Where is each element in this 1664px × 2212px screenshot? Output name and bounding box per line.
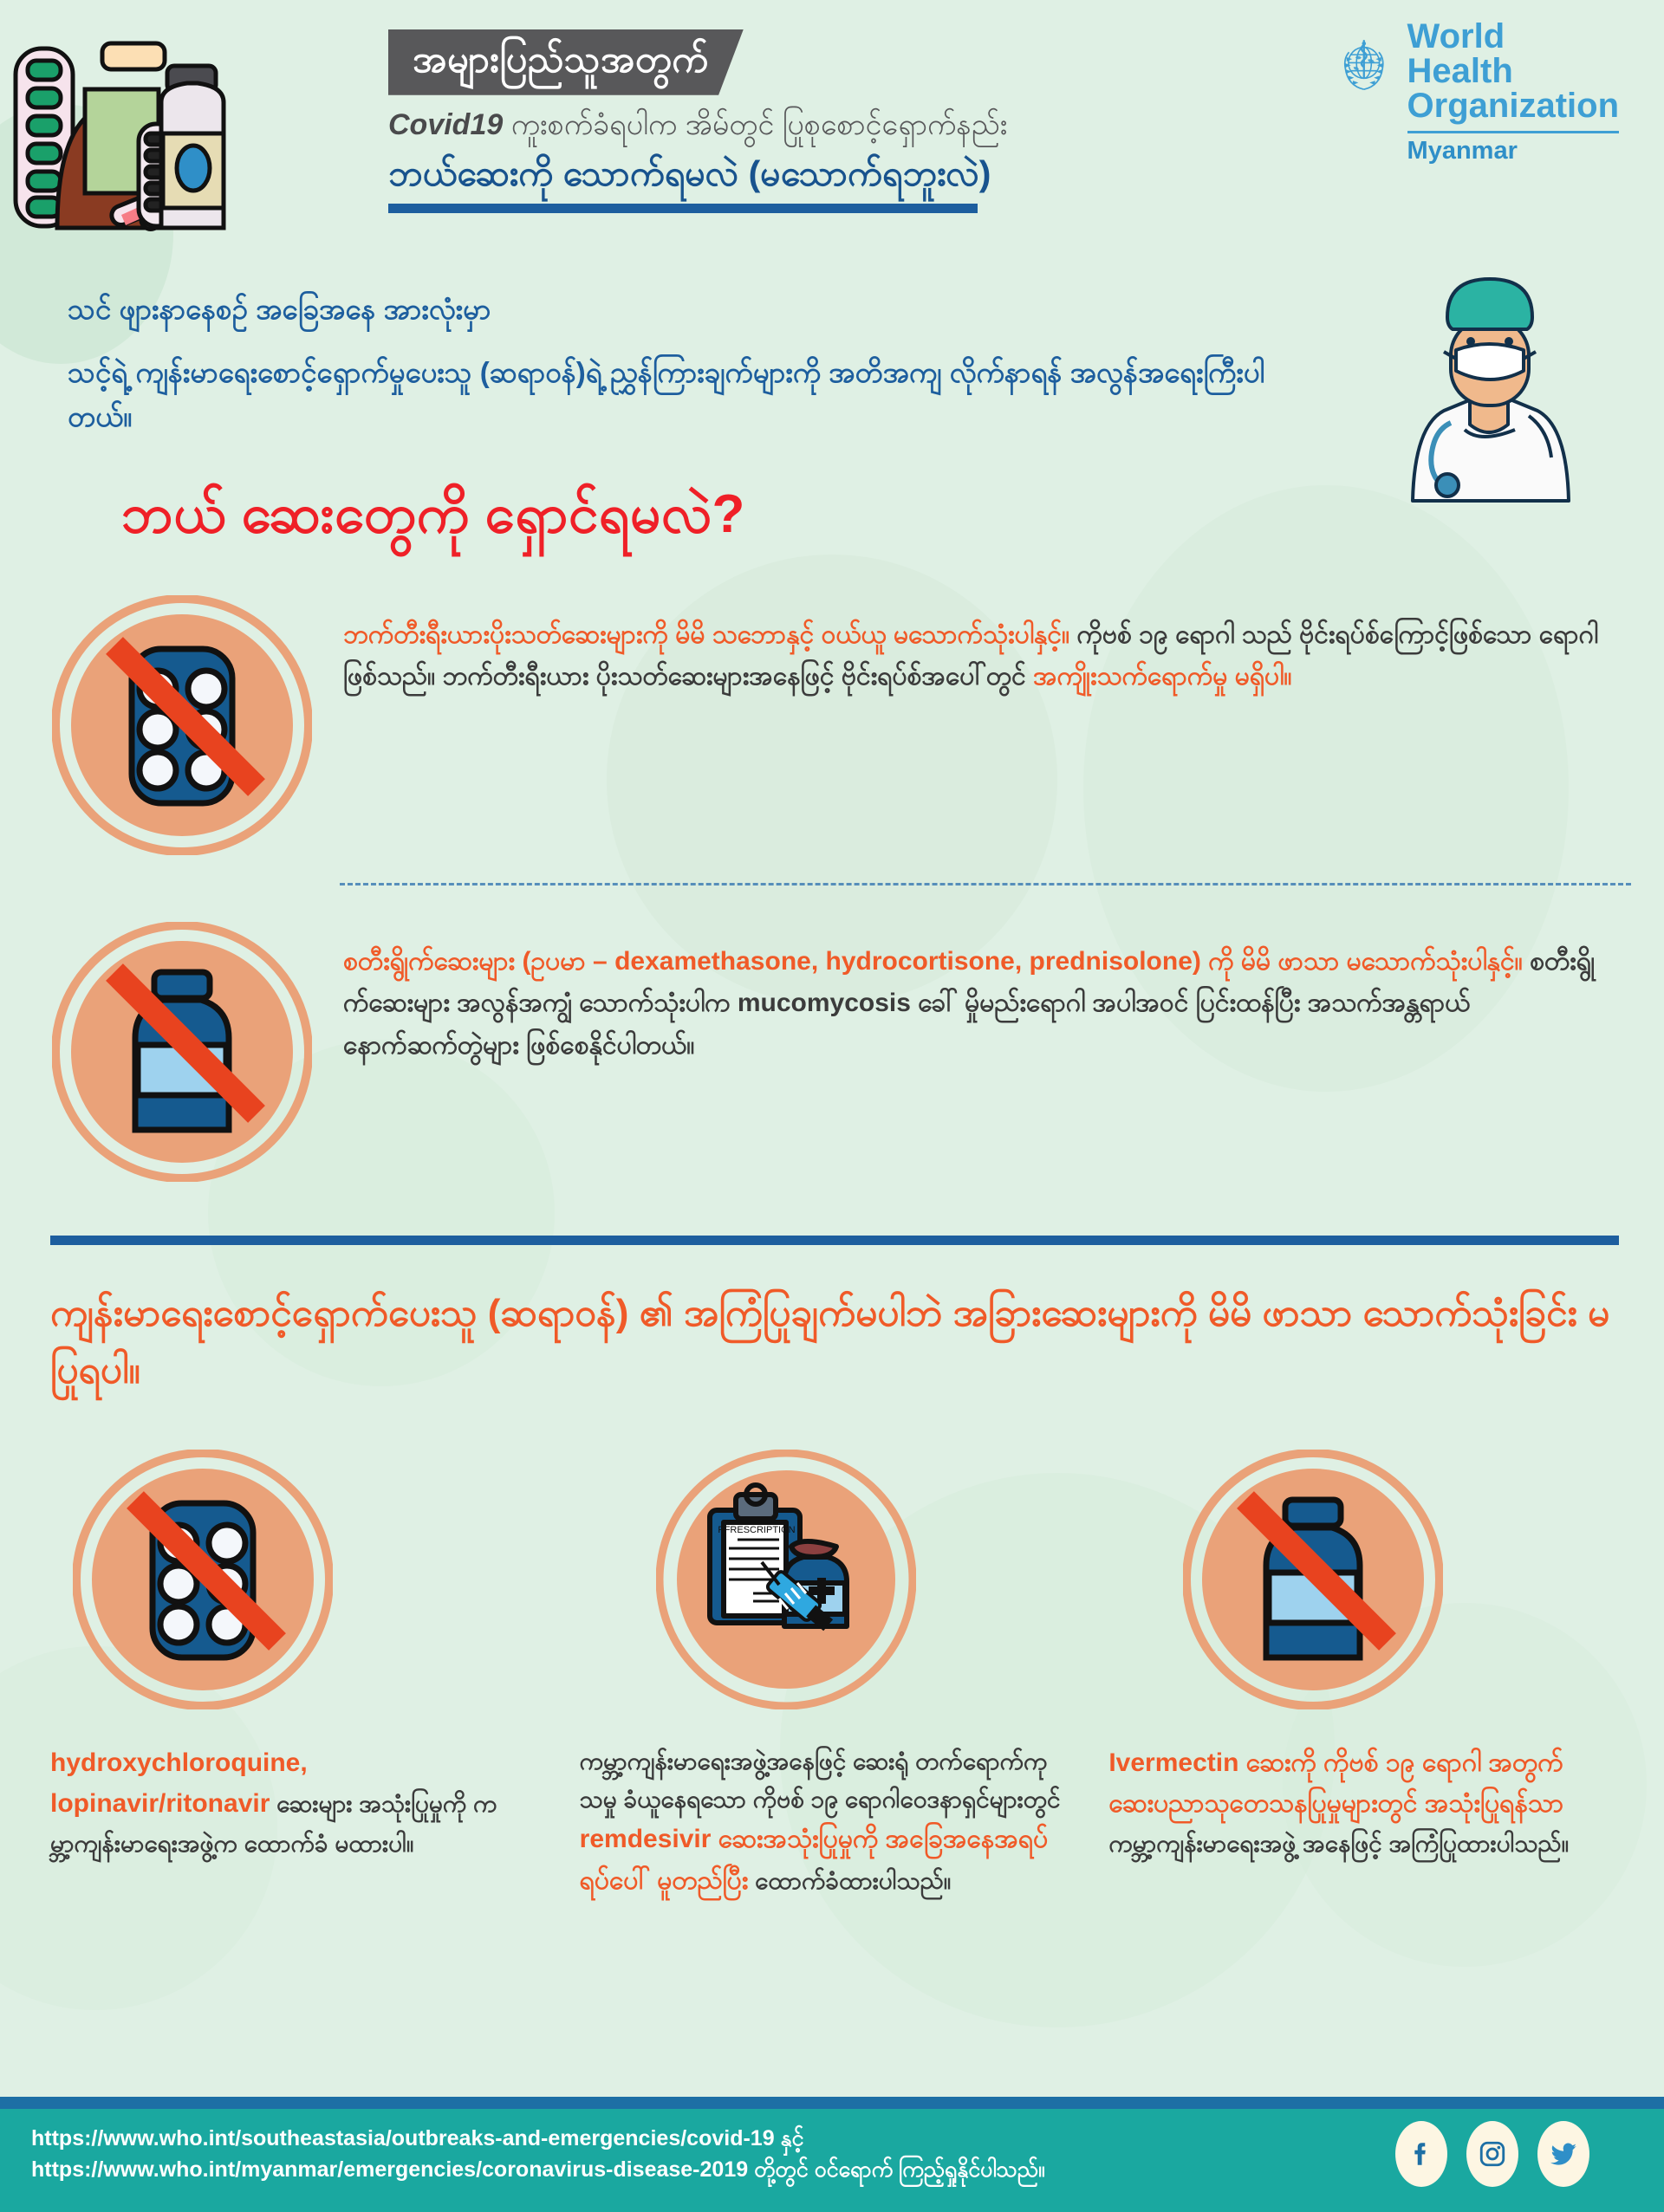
intro-paragraph: သင့်ရဲ့ ကျန်းမာရေးစောင့်ရှောက်မှုပေးသူ (…	[68, 350, 1298, 438]
drug-columns: hydroxychloroquine, lopinavir/ritonavir …	[50, 1450, 1619, 1901]
drug-name-ivermectin: Ivermectin	[1108, 1748, 1238, 1777]
who-country-label: Myanmar	[1407, 139, 1619, 164]
medicines-illustration	[9, 7, 373, 241]
medicine-bottle-prohibited-icon	[1183, 1450, 1443, 1709]
intro-block: သင် ဖျားနာနေစဉ် အခြေအနေ အားလုံးမှာ သင့်ရ…	[68, 288, 1298, 438]
footer-links: https://www.who.int/southeastasia/outbre…	[31, 2123, 1045, 2186]
svg-text:PFRESCRIPTION: PFRESCRIPTION	[718, 1525, 795, 1535]
who-underline	[1407, 131, 1619, 133]
prescription-clipboard-syringe-icon: PFRESCRIPTION	[656, 1450, 916, 1709]
title-divider	[388, 204, 978, 213]
column-body-3-post: ကမ္ဘာ့ကျန်းမာရေးအဖွဲ့ အနေဖြင့် အကြံပြုထာ…	[1108, 1830, 1569, 1857]
footer-link-row-1[interactable]: https://www.who.int/southeastasia/outbre…	[31, 2123, 1045, 2154]
header: အများပြည်သူအတွက် Covid19 ကူးစက်ခံရပါက အိ…	[0, 0, 1664, 269]
who-emblem-icon	[1333, 19, 1395, 113]
footer-link-1[interactable]: https://www.who.int/southeastasia/outbre…	[31, 2126, 775, 2150]
footer-link-row-2[interactable]: https://www.who.int/myanmar/emergencies/…	[31, 2154, 1045, 2185]
intro-line-1: သင် ဖျားနာနေစဉ် အခြေအနေ အားလုံးမှာ	[68, 288, 1298, 331]
facebook-icon[interactable]	[1395, 2121, 1447, 2187]
column-body-2-pre: ကမ္ဘာ့ကျန်းမာရေးအဖွဲ့အနေဖြင့် ဆေးရုံ တက်…	[580, 1748, 1061, 1813]
who-wordmark: World Health Organization Myanmar	[1407, 19, 1619, 164]
column-hydroxychloroquine: hydroxychloroquine, lopinavir/ritonavir …	[50, 1450, 561, 1901]
infographic-page: အများပြည်သူအတွက် Covid19 ကူးစက်ခံရပါက အိ…	[0, 0, 1664, 2212]
doctor-illustration	[1368, 269, 1610, 503]
twitter-icon[interactable]	[1537, 2121, 1589, 2187]
warning-row-steroids: စတီးရွိုက်ဆေးများ (ဥပမာ – dexamethasone,…	[52, 922, 1629, 1182]
subtitle-rest: ကူးစက်ခံရပါက အိမ်တွင် ပြုစုစောင့်ရှောက်န…	[503, 108, 1007, 141]
drug-name-remdesivir: remdesivir	[580, 1825, 712, 1853]
title-block: အများပြည်သူအတွက် Covid19 ကူးစက်ခံရပါက အိ…	[388, 29, 1220, 213]
subtitle-covid-label: Covid19	[388, 108, 503, 141]
footer-link-2-suffix: တို့တွင် ဝင်ရောက် ကြည့်ရှုနိုင်ပါသည်။	[748, 2157, 1044, 2182]
social-links	[1395, 2121, 1589, 2187]
blister-pack-prohibited-icon	[73, 1450, 333, 1709]
instagram-icon[interactable]	[1466, 2121, 1518, 2187]
footer-top-rule	[0, 2097, 1664, 2109]
column-ivermectin: Ivermectin ဆေးကို ကိုဗစ် ၁၉ ရောဂါ အတွက် …	[1108, 1450, 1619, 1901]
warning-highlight-2a: စတီးရွိုက်ဆေးများ (ဥပမာ – dexamethasone,…	[343, 947, 1523, 976]
who-line-1: World Health	[1407, 19, 1619, 88]
who-logo: World Health Organization Myanmar	[1333, 19, 1619, 164]
page-title: ဘယ်ဆေးကို သောက်ရမလဲ (မသောက်ရဘူးလဲ)	[388, 151, 1220, 197]
column-text-remdesivir: ကမ္ဘာ့ကျန်းမာရေးအဖွဲ့အနေဖြင့် ဆေးရုံ တက်…	[580, 1742, 1065, 1901]
section-divider	[50, 1236, 1619, 1245]
warning-row-antibiotics: ဘက်တီးရီးယားပိုးသတ်ဆေးများကို မိမိ သဘောန…	[52, 595, 1629, 855]
column-remdesivir: PFRESCRIPTION	[580, 1450, 1090, 1901]
footer: https://www.who.int/southeastasia/outbre…	[0, 2097, 1664, 2212]
warning-highlight-1a: ဘက်တီးရီးယားပိုးသတ်ဆေးများကို မိမိ သဘောန…	[343, 620, 1069, 649]
column-text-ivermectin: Ivermectin ဆေးကို ကိုဗစ် ၁၉ ရောဂါ အတွက် …	[1108, 1742, 1576, 1863]
who-line-2: Organization	[1407, 88, 1619, 123]
warning-highlight-1b: အကျိုးသက်ရောက်မှု မရှိပါ။	[1033, 662, 1291, 691]
warning-divider	[340, 883, 1631, 885]
audience-ribbon: အများပြည်သူအတွက်	[388, 29, 744, 95]
medicine-bottle-prohibited-icon	[52, 922, 312, 1182]
footer-link-1-suffix: နှင့်	[775, 2126, 804, 2150]
blister-pack-prohibited-icon	[52, 595, 312, 855]
column-text-hydroxychloroquine: hydroxychloroquine, lopinavir/ritonavir …	[50, 1742, 501, 1863]
column-body-2-post: ထောက်ခံထားပါသည်။	[748, 1867, 951, 1894]
secondary-heading: ကျန်းမာရေးစောင့်ရှောက်ပေးသူ (ဆရာဝန်) ၏ အ…	[50, 1285, 1619, 1399]
warning-text-antibiotics: ဘက်တီးရီးယားပိုးသတ်ဆေးများကို မိမိ သဘောန…	[343, 595, 1609, 698]
warning-text-steroids: စတီးရွိုက်ဆေးများ (ဥပမာ – dexamethasone,…	[343, 922, 1609, 1067]
subtitle: Covid19 ကူးစက်ခံရပါက အိမ်တွင် ပြုစုစောင့…	[388, 106, 1220, 146]
footer-link-2[interactable]: https://www.who.int/myanmar/emergencies/…	[31, 2157, 748, 2182]
